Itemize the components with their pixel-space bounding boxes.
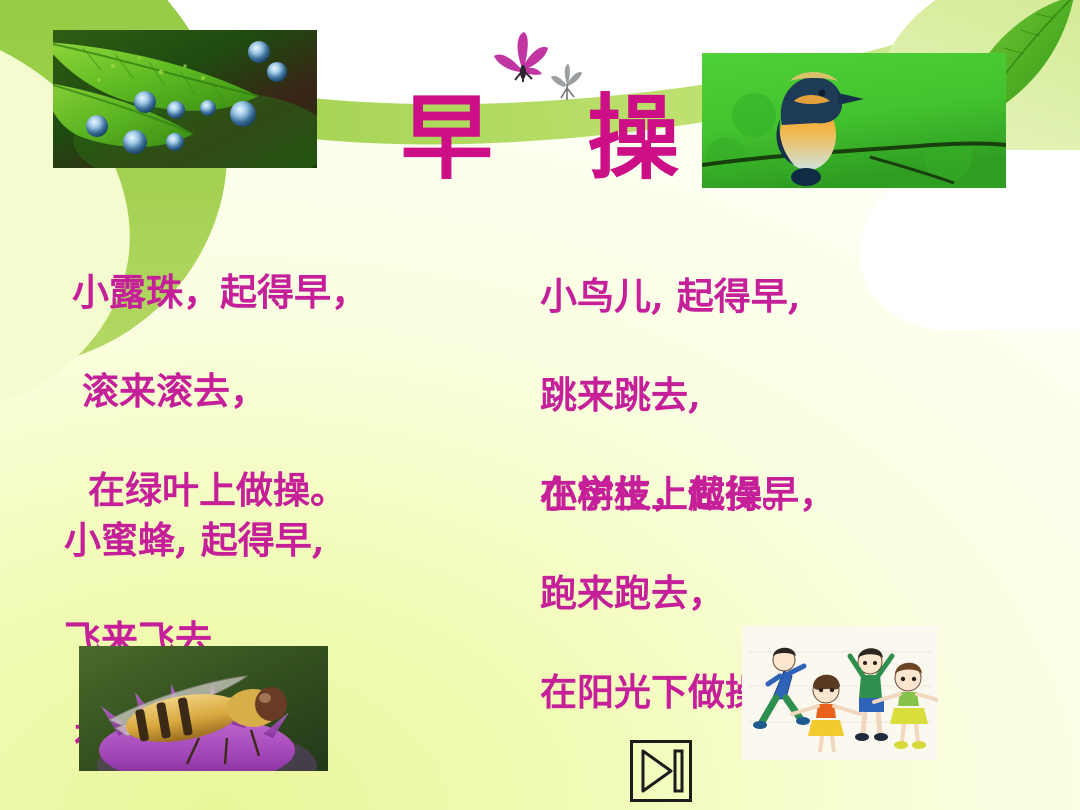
skip-to-next-slide-button[interactable] (630, 740, 692, 802)
stanza-bird-line-1: 小鸟儿, 起得早, (540, 272, 801, 322)
magenta-butterfly-icon (490, 28, 556, 90)
stanza-dew-line-1: 小露珠，起得早， (72, 268, 368, 318)
skip-forward-icon[interactable] (633, 743, 689, 799)
photo-hoverfly-on-flower (79, 646, 328, 771)
slide-canvas: 早 操 小露珠，起得早， 滚来滚去， 在绿叶上做操。 小鸟儿, 起得早, 跳来跳… (0, 0, 1080, 810)
stanza-pupil-line-2: 跑来跑去， (540, 569, 836, 619)
stanza-bird-line-2: 跳来跳去, (540, 371, 801, 421)
stanza-dew-line-2: 滚来滚去， (72, 367, 368, 417)
photo-children-exercising (742, 626, 938, 760)
stanza-bee-line-1: 小蜜蜂, 起得早, (64, 516, 333, 566)
slide-title: 早 操 (0, 92, 1080, 184)
stanza-pupil-line-1: 小学生，起得早， (540, 470, 836, 520)
